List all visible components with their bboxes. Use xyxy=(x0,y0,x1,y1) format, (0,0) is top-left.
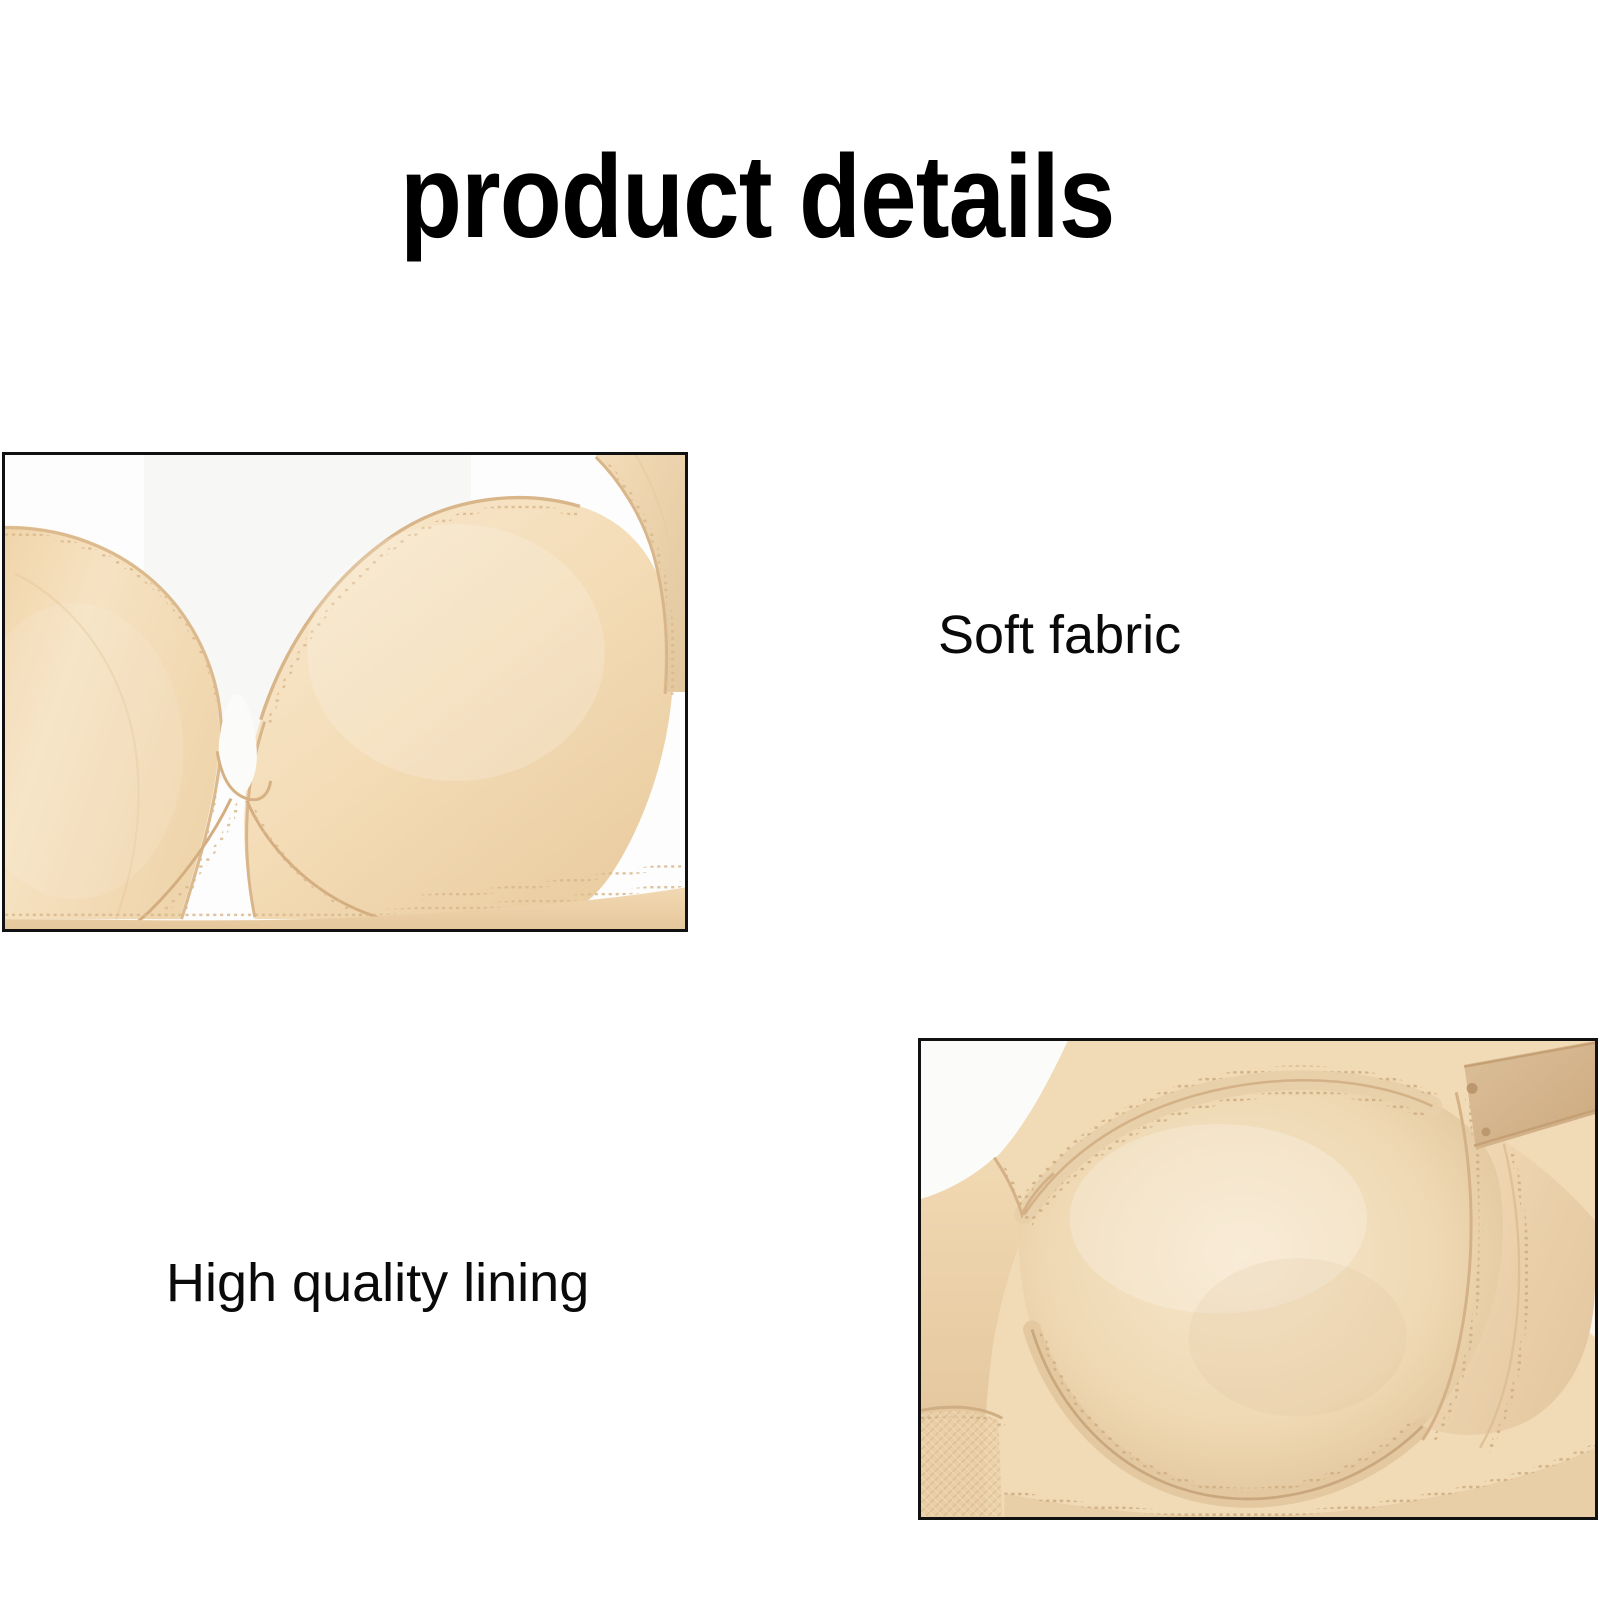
product-image-high-quality-lining[interactable] xyxy=(918,1038,1598,1520)
caption-soft-fabric: Soft fabric xyxy=(938,604,1181,666)
high-quality-lining-illustration xyxy=(921,1041,1595,1517)
product-image-soft-fabric[interactable] xyxy=(2,452,688,932)
page-title: product details xyxy=(400,138,1088,256)
soft-fabric-illustration xyxy=(5,455,685,929)
caption-high-quality-lining: High quality lining xyxy=(166,1252,589,1314)
